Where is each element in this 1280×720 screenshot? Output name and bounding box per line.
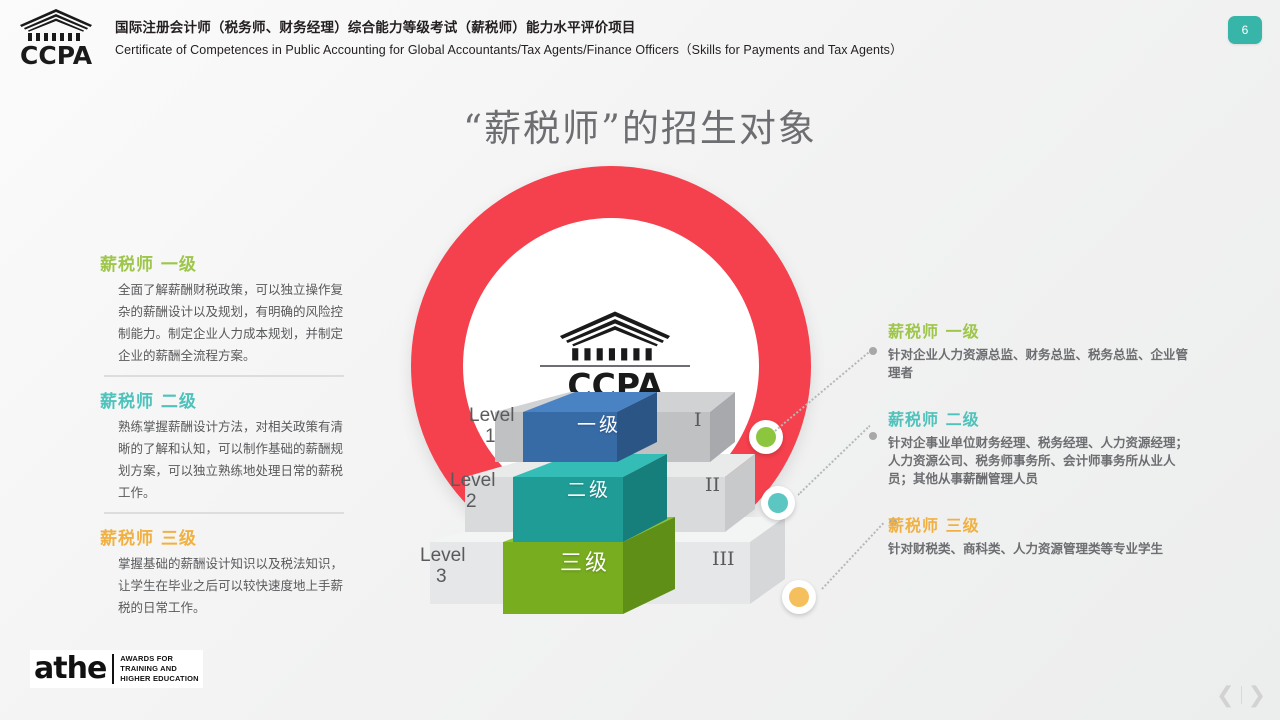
step-1-cube-label: 一级 — [577, 410, 621, 437]
left-heading-level-3: 薪税师 三级 — [100, 524, 348, 549]
right-heading-level-3: 薪税师 三级 — [888, 512, 1188, 536]
ccpa-header-logo: CCPA — [18, 8, 98, 70]
ccpa-header-wordmark: CCPA — [20, 43, 98, 68]
right-heading-level-2: 薪税师 二级 — [888, 406, 1188, 430]
left-block-level-2: 薪税师 二级 熟练掌握薪酬设计方法，对相关政策有清晰的了解和认知，可以制作基础的… — [100, 387, 348, 504]
header-titles: 国际注册会计师（税务师、财务经理）综合能力等级考试（薪税师）能力水平评价项目 C… — [115, 18, 1195, 60]
marker-level-2[interactable] — [761, 486, 795, 520]
athe-tagline-line-3: HIGHER EDUCATION — [120, 674, 198, 684]
marker-level-1[interactable] — [749, 420, 783, 454]
slide-navigation[interactable]: ❮ ❯ — [1216, 682, 1266, 708]
step-2-cube-label: 二级 — [567, 475, 611, 502]
right-body-level-3: 针对财税类、商科类、人力资源管理类等专业学生 — [888, 540, 1188, 558]
marker-level-3[interactable] — [782, 580, 816, 614]
athe-tagline-line-2: TRAINING AND — [120, 664, 198, 674]
left-divider-2 — [104, 512, 344, 514]
left-body-level-1: 全面了解薪酬财税政策，可以独立操作复杂的薪酬设计以及规划，有明确的风险控制能力。… — [100, 279, 348, 367]
right-heading-level-1: 薪税师 一级 — [888, 318, 1188, 342]
left-block-level-3: 薪税师 三级 掌握基础的薪酬设计知识以及税法知识，让学生在毕业之后可以较快速度地… — [100, 524, 348, 619]
prev-slide-icon[interactable]: ❮ — [1216, 682, 1234, 708]
athe-tagline-line-1: AWARDS FOR — [120, 654, 198, 664]
athe-wordmark: athe — [34, 654, 106, 684]
right-block-level-2: 薪税师 二级 针对企事业单位财务经理、税务经理、人力资源经理；人力资源公司、税务… — [888, 406, 1188, 488]
athe-tagline: AWARDS FOR TRAINING AND HIGHER EDUCATION — [120, 654, 198, 684]
step-3-cube-label: 三级 — [560, 545, 610, 577]
connector-dot-2 — [869, 432, 877, 440]
step-1-roman: I — [694, 409, 702, 431]
left-description-column: 薪税师 一级 全面了解薪酬财税政策，可以独立操作复杂的薪酬设计以及规划，有明确的… — [100, 250, 348, 621]
athe-logo-divider — [112, 654, 114, 684]
left-heading-level-2: 薪税师 二级 — [100, 387, 348, 412]
page-title: “薪税师”的招生对象 — [0, 98, 1280, 152]
right-block-level-3: 薪税师 三级 针对财税类、商科类、人力资源管理类等专业学生 — [888, 512, 1188, 558]
left-heading-level-1: 薪税师 一级 — [100, 250, 348, 275]
right-body-level-2: 针对企事业单位财务经理、税务经理、人力资源经理；人力资源公司、税务师事务所、会计… — [888, 434, 1188, 488]
marker-level-1-dot — [756, 427, 776, 447]
step-1-level-label: Level 1 — [469, 405, 514, 447]
right-audience-column: 薪税师 一级 针对企业人力资源总监、财务总监、税务总监、企业管理者 薪税师 二级… — [888, 318, 1188, 582]
step-3-roman: III — [712, 548, 735, 570]
header-title-english: Certificate of Competences in Public Acc… — [115, 40, 1195, 60]
nav-separator — [1241, 686, 1242, 704]
left-divider-1 — [104, 375, 344, 377]
marker-level-3-dot — [789, 587, 809, 607]
right-block-level-1: 薪税师 一级 针对企业人力资源总监、财务总监、税务总监、企业管理者 — [888, 318, 1188, 382]
next-slide-icon[interactable]: ❯ — [1248, 682, 1266, 708]
step-2-level-label: Level 2 — [450, 470, 495, 512]
step-3-level-label: Level 3 — [420, 545, 465, 587]
central-pyramid-graphic: CCPA — [395, 160, 845, 640]
header-title-chinese: 国际注册会计师（税务师、财务经理）综合能力等级考试（薪税师）能力水平评价项目 — [115, 18, 1195, 38]
left-body-level-2: 熟练掌握薪酬设计方法，对相关政策有清晰的了解和认知，可以制作基础的薪酬规划方案，… — [100, 416, 348, 504]
slide-header: CCPA 国际注册会计师（税务师、财务经理）综合能力等级考试（薪税师）能力水平评… — [0, 0, 1280, 78]
left-body-level-3: 掌握基础的薪酬设计知识以及税法知识，让学生在毕业之后可以较快速度地上手薪税的日常… — [100, 553, 348, 619]
page-number-badge: 6 — [1228, 16, 1262, 44]
athe-logo: athe AWARDS FOR TRAINING AND HIGHER EDUC… — [30, 650, 203, 688]
right-body-level-1: 针对企业人力资源总监、财务总监、税务总监、企业管理者 — [888, 346, 1188, 382]
temple-icon — [18, 8, 94, 42]
marker-level-2-dot — [768, 493, 788, 513]
step-2-roman: II — [705, 474, 720, 496]
connector-dot-1 — [869, 347, 877, 355]
left-block-level-1: 薪税师 一级 全面了解薪酬财税政策，可以独立操作复杂的薪酬设计以及规划，有明确的… — [100, 250, 348, 367]
